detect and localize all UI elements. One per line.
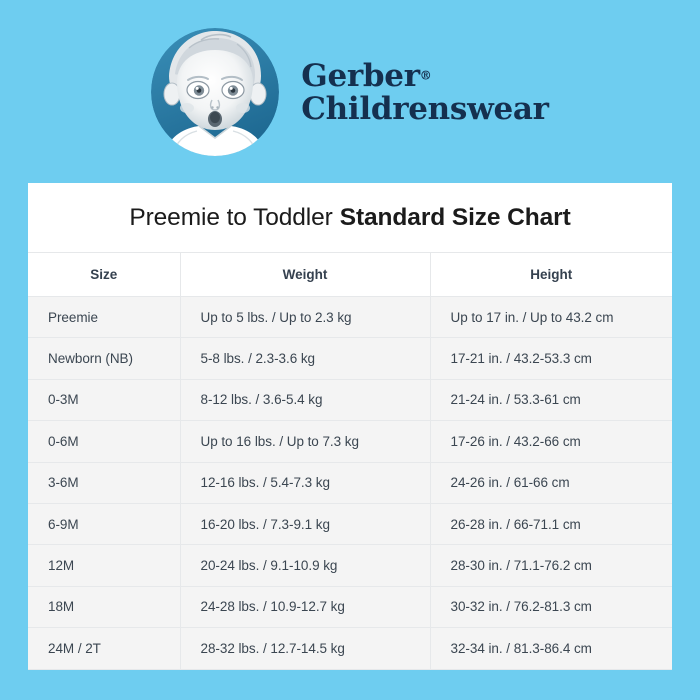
cell-weight: 8-12 lbs. / 3.6-5.4 kg (180, 379, 430, 420)
brand-wordmark: Gerber® Childrenswear (301, 60, 548, 124)
brand-line-1: Gerber® (301, 60, 548, 92)
table-row: 0-6M Up to 16 lbs. / Up to 7.3 kg 17-26 … (28, 421, 672, 462)
table-row: 3-6M 12-16 lbs. / 5.4-7.3 kg 24-26 in. /… (28, 462, 672, 503)
cell-height: 28-30 in. / 71.1-76.2 cm (430, 545, 672, 586)
cell-weight: 16-20 lbs. / 7.3-9.1 kg (180, 503, 430, 544)
cell-height: 24-26 in. / 61-66 cm (430, 462, 672, 503)
table-row: 0-3M 8-12 lbs. / 3.6-5.4 kg 21-24 in. / … (28, 379, 672, 420)
size-chart-table: Size Weight Height Preemie Up to 5 lbs. … (28, 252, 672, 670)
cell-weight: 20-24 lbs. / 9.1-10.9 kg (180, 545, 430, 586)
registered-mark-icon: ® (420, 69, 432, 83)
cell-height: 21-24 in. / 53.3-61 cm (430, 379, 672, 420)
table-row: 18M 24-28 lbs. / 10.9-12.7 kg 30-32 in. … (28, 586, 672, 627)
cell-height: 17-26 in. / 43.2-66 cm (430, 421, 672, 462)
cell-height: 26-28 in. / 66-71.1 cm (430, 503, 672, 544)
table-row: 24M / 2T 28-32 lbs. / 12.7-14.5 kg 32-34… (28, 628, 672, 669)
page-title: Preemie to Toddler Standard Size Chart (28, 183, 672, 252)
column-header-size: Size (28, 253, 180, 297)
cell-size: Preemie (28, 297, 180, 338)
table-body: Preemie Up to 5 lbs. / Up to 2.3 kg Up t… (28, 297, 672, 670)
cell-size: 18M (28, 586, 180, 627)
table-header: Size Weight Height (28, 253, 672, 297)
page-title-light: Preemie to Toddler (129, 204, 332, 232)
size-chart-card: Preemie to Toddler Standard Size Chart S… (28, 183, 672, 670)
cell-weight: 5-8 lbs. / 2.3-3.6 kg (180, 338, 430, 379)
cell-height: Up to 17 in. / Up to 43.2 cm (430, 297, 672, 338)
cell-size: 6-9M (28, 503, 180, 544)
cell-weight: Up to 16 lbs. / Up to 7.3 kg (180, 421, 430, 462)
cell-height: 30-32 in. / 76.2-81.3 cm (430, 586, 672, 627)
cell-size: 12M (28, 545, 180, 586)
brand-header: Gerber® Childrenswear (0, 0, 700, 183)
size-chart-page: Gerber® Childrenswear Preemie to Toddler… (0, 0, 700, 700)
table-header-row: Size Weight Height (28, 253, 672, 297)
cell-size: Newborn (NB) (28, 338, 180, 379)
cell-weight: 24-28 lbs. / 10.9-12.7 kg (180, 586, 430, 627)
column-header-weight: Weight (180, 253, 430, 297)
cell-height: 17-21 in. / 43.2-53.3 cm (430, 338, 672, 379)
table-row: Preemie Up to 5 lbs. / Up to 2.3 kg Up t… (28, 297, 672, 338)
brand-line-2: Childrenswear (301, 93, 548, 125)
cell-size: 24M / 2T (28, 628, 180, 669)
cell-size: 0-3M (28, 379, 180, 420)
gerber-baby-logo-icon (151, 28, 279, 156)
cell-size: 0-6M (28, 421, 180, 462)
cell-height: 32-34 in. / 81.3-86.4 cm (430, 628, 672, 669)
page-title-bold: Standard Size Chart (340, 204, 571, 232)
cell-weight: 28-32 lbs. / 12.7-14.5 kg (180, 628, 430, 669)
cell-weight: Up to 5 lbs. / Up to 2.3 kg (180, 297, 430, 338)
column-header-height: Height (430, 253, 672, 297)
cell-size: 3-6M (28, 462, 180, 503)
table-row: 12M 20-24 lbs. / 9.1-10.9 kg 28-30 in. /… (28, 545, 672, 586)
table-row: 6-9M 16-20 lbs. / 7.3-9.1 kg 26-28 in. /… (28, 503, 672, 544)
cell-weight: 12-16 lbs. / 5.4-7.3 kg (180, 462, 430, 503)
brand-name: Gerber (301, 58, 419, 94)
table-row: Newborn (NB) 5-8 lbs. / 2.3-3.6 kg 17-21… (28, 338, 672, 379)
